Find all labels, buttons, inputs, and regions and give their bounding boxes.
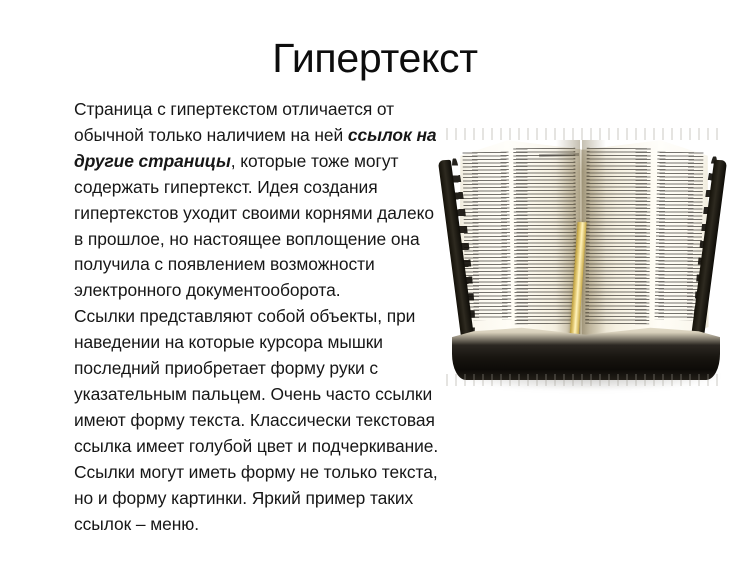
paragraph-3: Ссылки могут иметь форму не только текст… bbox=[74, 460, 446, 538]
book-stage bbox=[434, 126, 732, 404]
cutout-artifact-bottom bbox=[446, 374, 724, 386]
paragraph-2: Ссылки представляют собой объекты, при н… bbox=[74, 304, 446, 459]
open-book-image bbox=[434, 126, 732, 404]
paragraph-2-run-1: Ссылки представляют собой объекты, при н… bbox=[74, 306, 438, 456]
body-text-column: Страница с гипертекстом отличается от об… bbox=[74, 97, 446, 537]
paragraph-1: Страница с гипертекстом отличается от об… bbox=[74, 97, 446, 304]
cutout-artifact-top bbox=[446, 128, 724, 140]
paragraph-1-run-1: Страница с гипертекстом отличается от об… bbox=[74, 99, 394, 145]
gutter-shadow-right bbox=[582, 140, 606, 346]
paragraph-3-run-1: Ссылки могут иметь форму не только текст… bbox=[74, 462, 438, 534]
page-title: Гипертекст bbox=[0, 34, 750, 82]
presentation-slide: Гипертекст Страница с гипертекстом отлич… bbox=[0, 0, 750, 561]
paragraph-1-run-3: , которые тоже могут содержать гипертекс… bbox=[74, 151, 434, 301]
